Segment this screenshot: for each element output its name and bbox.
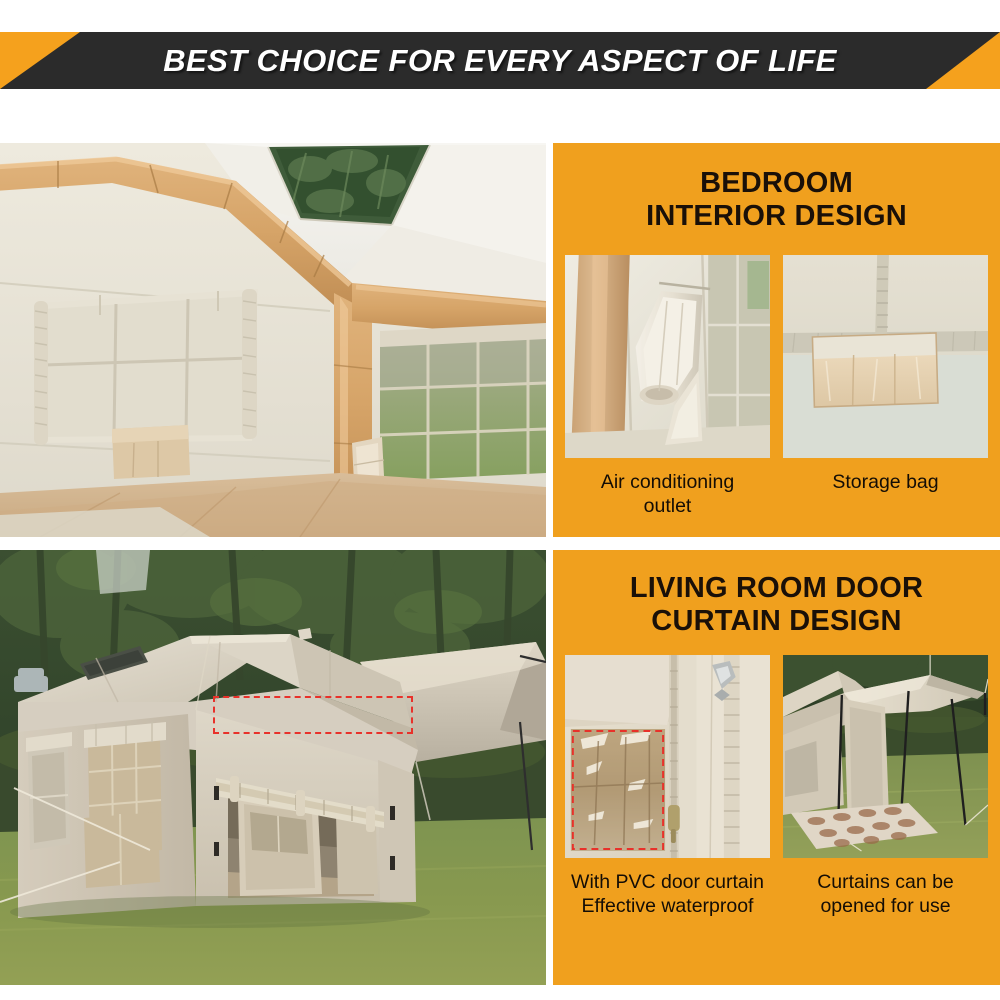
- caption-storage-line1: Storage bag: [783, 470, 988, 494]
- pvc-curtain-illustration: [565, 655, 770, 858]
- living-room-captions: With PVC door curtain Effective waterpro…: [553, 870, 1000, 919]
- awning-open-illustration: [783, 655, 988, 858]
- tent-exterior-illustration: [0, 550, 546, 985]
- bedroom-title-line2: INTERIOR DESIGN: [553, 200, 1000, 233]
- door-curtain-highlight-box: [213, 696, 413, 734]
- living-room-hero-photo: [0, 550, 546, 985]
- living-room-title-line2: CURTAIN DESIGN: [553, 605, 1000, 638]
- storage-bag-illustration: [783, 255, 988, 458]
- bedroom-title-line1: BEDROOM: [553, 167, 1000, 200]
- banner-headline: BEST CHOICE FOR EVERY ASPECT OF LIFE: [0, 32, 1000, 89]
- bedroom-thumbnail-row: [553, 255, 1000, 458]
- living-room-thumbnail-row: [553, 655, 1000, 858]
- caption-air-conditioning-outlet: Air conditioning outlet: [565, 470, 770, 519]
- caption-pvc-line1: With PVC door curtain: [565, 870, 770, 894]
- caption-pvc-door-curtain: With PVC door curtain Effective waterpro…: [565, 870, 770, 919]
- header-banner: BEST CHOICE FOR EVERY ASPECT OF LIFE: [0, 32, 1000, 89]
- caption-opened-line2: opened for use: [783, 894, 988, 918]
- section-living-room: LIVING ROOM DOOR CURTAIN DESIGN: [0, 550, 1000, 985]
- caption-ac-line1: Air conditioning: [565, 470, 770, 494]
- caption-opened-line1: Curtains can be: [783, 870, 988, 894]
- thumb-air-conditioning-outlet: [565, 255, 770, 458]
- living-room-panel-title: LIVING ROOM DOOR CURTAIN DESIGN: [553, 572, 1000, 638]
- caption-storage-bag: Storage bag: [783, 470, 988, 519]
- thumb-curtains-opened: [783, 655, 988, 858]
- product-feature-page: BEST CHOICE FOR EVERY ASPECT OF LIFE: [0, 0, 1000, 1000]
- caption-pvc-line2: Effective waterproof: [565, 894, 770, 918]
- section-bedroom: BEDROOM INTERIOR DESIGN: [0, 143, 1000, 537]
- thumb-pvc-door-curtain: [565, 655, 770, 858]
- living-room-info-panel: LIVING ROOM DOOR CURTAIN DESIGN: [553, 550, 1000, 985]
- bedroom-captions: Air conditioning outlet Storage bag: [553, 470, 1000, 519]
- thumb-storage-bag: [783, 255, 988, 458]
- bedroom-panel-title: BEDROOM INTERIOR DESIGN: [553, 167, 1000, 233]
- ac-outlet-illustration: [565, 255, 770, 458]
- caption-ac-line2: outlet: [565, 494, 770, 518]
- bedroom-info-panel: BEDROOM INTERIOR DESIGN: [553, 143, 1000, 537]
- living-room-title-line1: LIVING ROOM DOOR: [553, 572, 1000, 605]
- caption-curtains-opened: Curtains can be opened for use: [783, 870, 988, 919]
- bedroom-hero-photo: [0, 143, 546, 537]
- bedroom-interior-illustration: [0, 143, 546, 537]
